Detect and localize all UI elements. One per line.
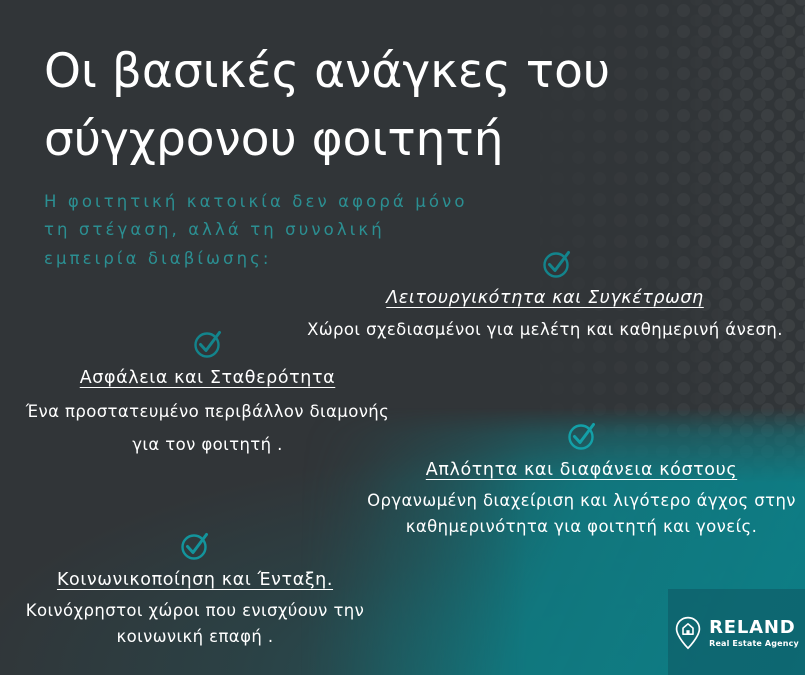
infographic-canvas: Οι βασικές ανάγκες του σύγχρονου φοιτητή…: [0, 0, 805, 675]
feature-block-safety: Ασφάλεια και Σταθερότητα Ένα προστατευμέ…: [20, 328, 395, 461]
feature-block-cost: Απλότητα και διαφάνεια κόστους Οργανωμέν…: [358, 420, 805, 540]
feature-body: Οργανωμένη διαχείριση και λιγότερο άγχος…: [358, 488, 805, 540]
feature-heading: Ασφάλεια και Σταθερότητα: [20, 366, 395, 391]
logo-name: RELAND: [709, 619, 799, 637]
check-circle-icon: [179, 530, 211, 562]
map-pin-house-icon: [674, 616, 702, 650]
feature-body: Κοινόχρηστοι χώροι που ενισχύουν την κοι…: [0, 598, 390, 651]
feature-heading: Απλότητα και διαφάνεια κόστους: [358, 458, 805, 483]
check-circle-icon: [566, 420, 598, 452]
page-title-line-2: σύγχρονου φοιτητή: [44, 106, 704, 174]
check-circle-icon: [541, 248, 573, 280]
feature-block-social: Κοινωνικοποίηση και Ένταξη. Κοινόχρηστοι…: [0, 530, 390, 651]
feature-heading: Κοινωνικοποίηση και Ένταξη.: [0, 568, 390, 593]
brand-logo[interactable]: RELAND Real Estate Agency: [668, 589, 805, 675]
feature-body: Ένα προστατευμένο περιβάλλον διαμονής γι…: [20, 395, 395, 461]
check-circle-icon: [192, 328, 224, 360]
page-title: Οι βασικές ανάγκες του σύγχρονου φοιτητή: [44, 38, 704, 173]
page-title-line-1: Οι βασικές ανάγκες του: [44, 38, 704, 106]
logo-tagline: Real Estate Agency: [709, 640, 799, 648]
feature-heading: Λειτουργικότητα και Συγκέτρωση: [285, 286, 805, 311]
